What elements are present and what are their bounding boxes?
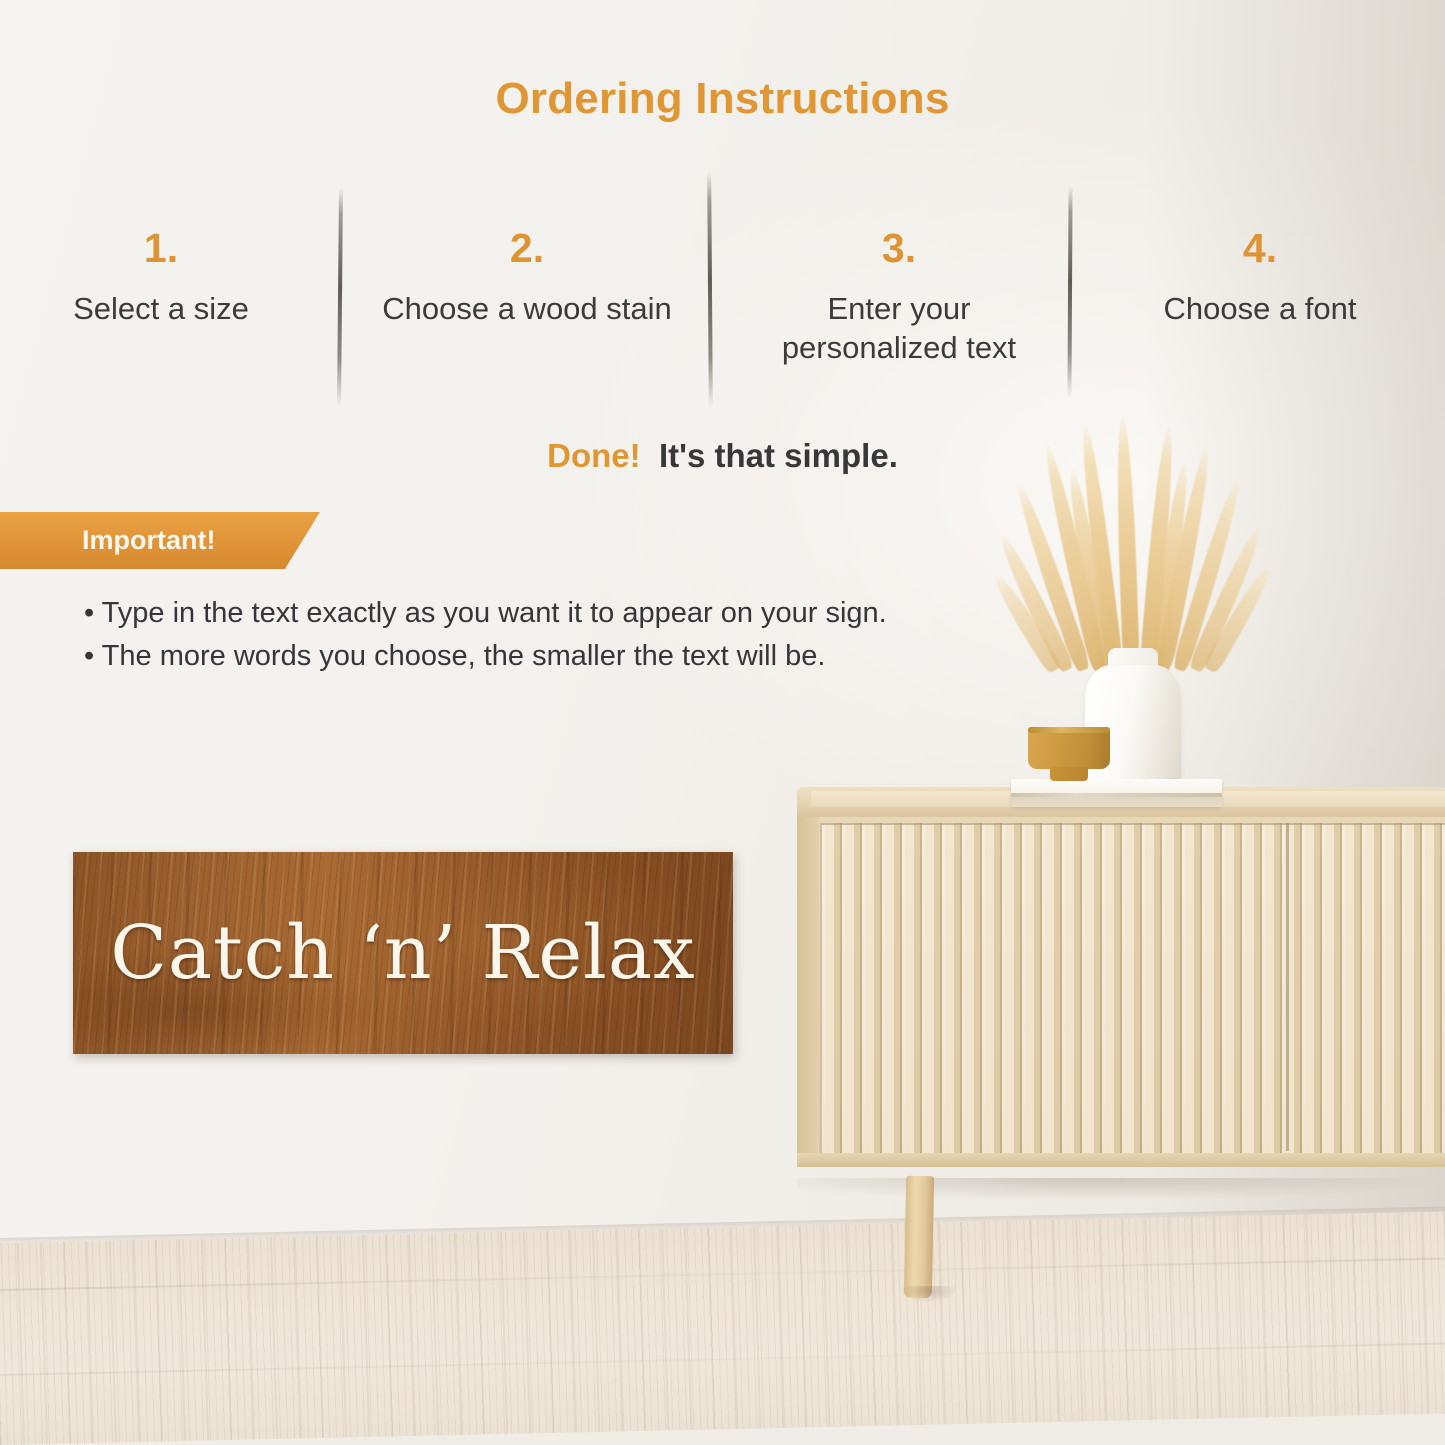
step-1-number: 1. — [22, 228, 300, 269]
step-3-label: Enter your personalized text — [748, 289, 1050, 367]
step-2-number: 2. — [382, 228, 672, 269]
step-4-number: 4. — [1110, 228, 1410, 269]
list-item: • The more words you choose, the smaller… — [84, 635, 1094, 678]
step-1-label: Select a size — [22, 289, 300, 328]
important-banner-label: Important! — [82, 525, 215, 556]
bowl-body — [1028, 727, 1110, 769]
sign-personalized-text: Catch ‘n’ Relax — [110, 910, 695, 996]
sideboard-bottom-rail — [797, 1153, 1445, 1167]
sideboard-leg — [904, 1176, 934, 1299]
step-1: 1. Select a size — [22, 228, 300, 328]
step-4: 4. Choose a font — [1110, 228, 1410, 328]
book-page-edge — [1011, 793, 1222, 797]
step-4-label: Choose a font — [1110, 289, 1410, 328]
bowl-foot — [1050, 767, 1088, 781]
done-highlight: Done! — [547, 437, 641, 474]
wood-floor — [0, 1211, 1445, 1445]
done-tagline: Done! It's that simple. — [0, 437, 1445, 475]
list-item: • Type in the text exactly as you want i… — [84, 592, 1094, 635]
fluted-sideboard — [797, 787, 1445, 1185]
step-3: 3. Enter your personalized text — [748, 228, 1050, 367]
step-3-number: 3. — [748, 228, 1050, 269]
bowl-rim — [1028, 727, 1110, 733]
sideboard-door-seam — [1286, 823, 1289, 1151]
page-title: Ordering Instructions — [0, 74, 1445, 124]
sideboard-side-panel — [797, 813, 819, 1161]
wooden-bowl — [1028, 727, 1110, 781]
steps-row: 1. Select a size 2. Choose a wood stain … — [0, 228, 1445, 408]
product-infographic: Ordering Instructions 1. Select a size 2… — [0, 0, 1445, 1445]
sideboard-leg-shadow — [898, 1286, 958, 1302]
step-2: 2. Choose a wood stain — [382, 228, 672, 328]
important-bullet-list: • Type in the text exactly as you want i… — [84, 592, 1094, 678]
step-2-label: Choose a wood stain — [382, 289, 672, 328]
sideboard-fluted-doors — [820, 823, 1445, 1153]
wooden-sign-product: Catch ‘n’ Relax — [73, 852, 733, 1054]
important-banner: Important! — [0, 512, 320, 569]
done-rest: It's that simple. — [659, 437, 898, 474]
